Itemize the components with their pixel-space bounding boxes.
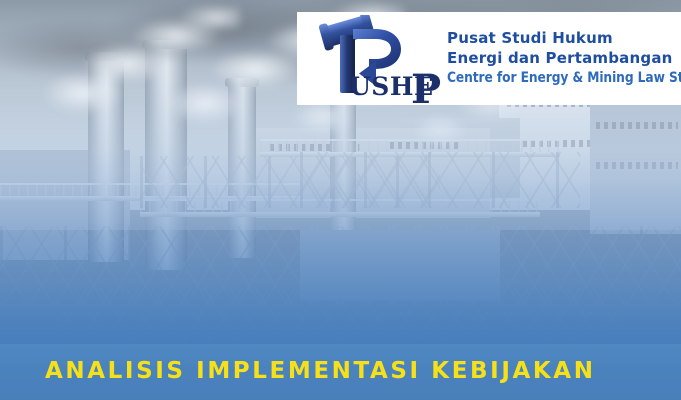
pushep-wordmark-text: Pusat Studi Hukum Energi dan Pertambanga… <box>447 29 681 87</box>
logo-line-2: Energi dan Pertambangan <box>447 49 681 69</box>
title-band: ANALISIS IMPLEMENTASI KEBIJAKAN <box>0 344 681 400</box>
svg-text:P: P <box>411 66 441 103</box>
pushep-gavel-p-logo-icon: USHE P <box>313 15 441 103</box>
logo-line-3: Centre for Energy & Mining Law Studies <box>447 69 681 88</box>
logo-line-1: Pusat Studi Hukum <box>447 29 681 49</box>
pushep-logo-card: USHE P Pusat Studi Hukum Energi dan Pert… <box>297 12 681 105</box>
slide-title: ANALISIS IMPLEMENTASI KEBIJAKAN <box>45 360 596 385</box>
slide-canvas: USHE P Pusat Studi Hukum Energi dan Pert… <box>0 0 681 400</box>
